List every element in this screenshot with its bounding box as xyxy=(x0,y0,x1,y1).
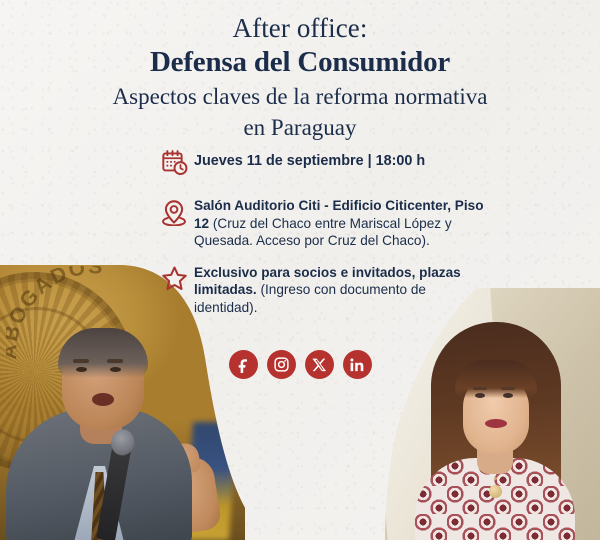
facebook-icon xyxy=(235,356,252,373)
woman-eyebrow-right xyxy=(501,387,515,390)
headline-block: After office: Defensa del Consumidor Asp… xyxy=(0,12,600,142)
headline-subtitle-line1: Aspectos claves de la reforma normativa xyxy=(0,83,600,111)
detail-venue-text: Salón Auditorio Citi - Edificio Citicent… xyxy=(191,197,487,250)
detail-row-venue: Salón Auditorio Citi - Edificio Citicent… xyxy=(157,197,487,250)
woman-lips xyxy=(485,419,507,428)
social-link-instagram[interactable] xyxy=(267,350,296,379)
event-poster: ABOGADOS After office: xyxy=(0,0,600,540)
detail-date-text: Jueves 11 de septiembre | 18:00 h xyxy=(191,148,487,171)
calendar-clock-icon xyxy=(157,148,191,183)
x-twitter-icon xyxy=(312,357,327,372)
linkedin-icon xyxy=(349,357,365,373)
social-link-linkedin[interactable] xyxy=(343,350,372,379)
detail-access-text: Exclusivo para socios e invitados, plaza… xyxy=(191,264,487,317)
social-link-x-twitter[interactable] xyxy=(305,350,334,379)
woman-eyebrow-left xyxy=(473,387,487,390)
speaker-mouth xyxy=(92,393,114,406)
headline-kicker: After office: xyxy=(0,12,600,44)
detail-row-date: Jueves 11 de septiembre | 18:00 h xyxy=(157,148,487,183)
woman-eye-right xyxy=(503,393,513,398)
location-pin-icon xyxy=(157,197,191,233)
woman-necklace-pendant xyxy=(489,485,502,498)
event-details-list: Jueves 11 de septiembre | 18:00 h Salón … xyxy=(157,148,487,330)
woman-eye-left xyxy=(475,393,485,398)
headline-title: Defensa del Consumidor xyxy=(0,45,600,80)
social-link-facebook[interactable] xyxy=(229,350,258,379)
instagram-icon xyxy=(273,356,290,373)
detail-venue-light: (Cruz del Chaco entre Mariscal López y Q… xyxy=(194,216,452,249)
headline-subtitle-line2: en Paraguay xyxy=(0,114,600,142)
social-links-bar xyxy=(0,350,600,379)
star-outline-icon xyxy=(157,264,191,299)
detail-row-access: Exclusivo para socios e invitados, plaza… xyxy=(157,264,487,317)
